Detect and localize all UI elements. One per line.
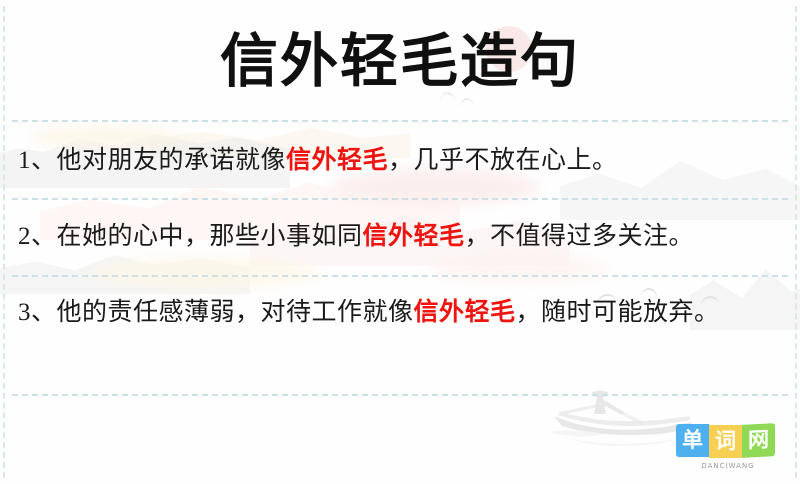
watercolor-wash-decoration [430,255,610,283]
sentence-text-before-3: 他的责任感薄弱，对待工作就像 [57,299,414,326]
sentence-item-3: 3、他的责任感薄弱，对待工作就像信外轻毛，随时可能放弃。 [18,292,778,334]
sentence-item-2: 2、在她的心中，那些小事如同信外轻毛，不值得过多关注。 [18,216,798,258]
sentence-item-1: 1、他对朋友的承诺就像信外轻毛，几乎不放在心上。 [18,140,798,182]
logo-tile-2: 词 [709,425,742,458]
sentence-index-3: 3、 [18,299,57,326]
dashed-separator [12,275,788,277]
logo-subtitle: DANCIWANG [672,462,784,470]
slide-page: 信外轻毛造句 1、他对朋友的承诺就像信外轻毛，几乎不放在心上。 2、在她的心中，… [0,0,800,484]
logo-tile-3: 网 [742,423,775,458]
sentence-text-before-1: 他对朋友的承诺就像 [57,147,287,174]
watercolor-wash-decoration [90,258,320,288]
logo-tile-1: 单 [676,424,709,457]
dashed-separator [12,198,788,200]
site-logo[interactable]: 单 词 网 DANCIWANG [672,424,784,476]
bird-icon [459,97,475,111]
highlighted-idiom-1: 信外轻毛 [286,147,388,174]
dashed-separator [12,394,788,396]
highlighted-idiom-2: 信外轻毛 [363,223,465,250]
page-title: 信外轻毛造句 [0,28,800,94]
sentence-text-after-1: ，几乎不放在心上。 [388,147,618,174]
sentence-text-before-2: 在她的心中，那些小事如同 [57,223,363,250]
sentence-index-2: 2、 [18,223,57,250]
sentence-text-after-3: ，随时可能放弃。 [516,299,720,326]
logo-tiles: 单 词 网 [672,424,784,457]
sentence-text-after-2: ，不值得过多关注。 [465,223,695,250]
sentence-index-1: 1、 [18,147,57,174]
dashed-separator [12,120,788,122]
highlighted-idiom-3: 信外轻毛 [414,299,516,326]
